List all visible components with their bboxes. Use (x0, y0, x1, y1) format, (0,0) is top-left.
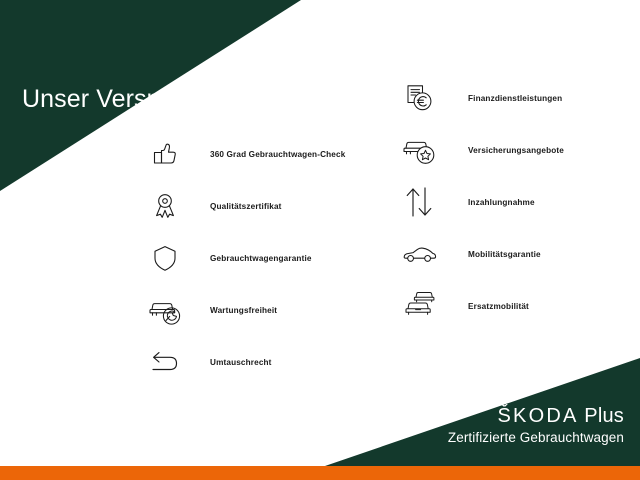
two-cars-icon (402, 282, 446, 330)
feature-label: Inzahlungnahme (468, 198, 535, 207)
logo-main-line: ŠKODA Plus (448, 405, 624, 428)
document-euro-icon (402, 74, 446, 122)
feature-label: Qualitätszertifikat (210, 202, 282, 211)
orange-bottom-bar (0, 466, 640, 480)
return-arrow-icon (148, 338, 192, 386)
feature-label: Finanzdienstleistungen (468, 94, 562, 103)
thumbs-up-icon (148, 130, 192, 178)
feature-item-360-check: 360 Grad Gebrauchtwagen-Check (148, 128, 345, 180)
feature-item-umtauschrecht: Umtauschrecht (148, 336, 345, 388)
car-side-icon (402, 230, 446, 278)
headline-line-1: Unser Versprechen. (22, 83, 245, 116)
feature-label: Ersatzmobilität (468, 302, 529, 311)
feature-label: Mobilitätsgarantie (468, 250, 541, 259)
feature-item-gebrauchtwagengarantie: Gebrauchtwagengarantie (148, 232, 345, 284)
logo-subtitle: Zertifizierte Gebrauchtwagen (448, 429, 624, 447)
feature-item-inzahlungnahme: Inzahlungnahme (402, 176, 564, 228)
car-star-icon (402, 126, 446, 174)
logo-brand-text: ŠKODA (498, 405, 579, 427)
feature-label: Versicherungsangebote (468, 146, 564, 155)
feature-item-ersatzmobilitaet: Ersatzmobilität (402, 280, 564, 332)
feature-item-mobilitaetsgarantie: Mobilitätsgarantie (402, 228, 564, 280)
feature-label: 360 Grad Gebrauchtwagen-Check (210, 150, 345, 159)
skoda-plus-logo: ŠKODA Plus Zertifizierte Gebrauchtwagen (448, 405, 624, 447)
feature-list-left: 360 Grad Gebrauchtwagen-Check Qualitätsz… (148, 128, 345, 388)
award-rosette-icon (148, 182, 192, 230)
car-wrench-icon (148, 286, 192, 334)
feature-item-finanzdienstleistungen: Finanzdienstleistungen (402, 72, 564, 124)
logo-plus-text: Plus (579, 405, 624, 427)
shield-icon (148, 234, 192, 282)
feature-label: Gebrauchtwagengarantie (210, 254, 312, 263)
up-down-arrows-icon (402, 178, 446, 226)
feature-item-versicherungsangebote: Versicherungsangebote (402, 124, 564, 176)
feature-item-qualitaetszertifikat: Qualitätszertifikat (148, 180, 345, 232)
promo-banner: Unser Versprechen. Ihr Plus. 360 Grad Ge… (0, 0, 640, 480)
feature-list-right: Finanzdienstleistungen Versicherungsange… (402, 72, 564, 332)
feature-item-wartungsfreiheit: Wartungsfreiheit (148, 284, 345, 336)
feature-label: Umtauschrecht (210, 358, 272, 367)
feature-label: Wartungsfreiheit (210, 306, 277, 315)
